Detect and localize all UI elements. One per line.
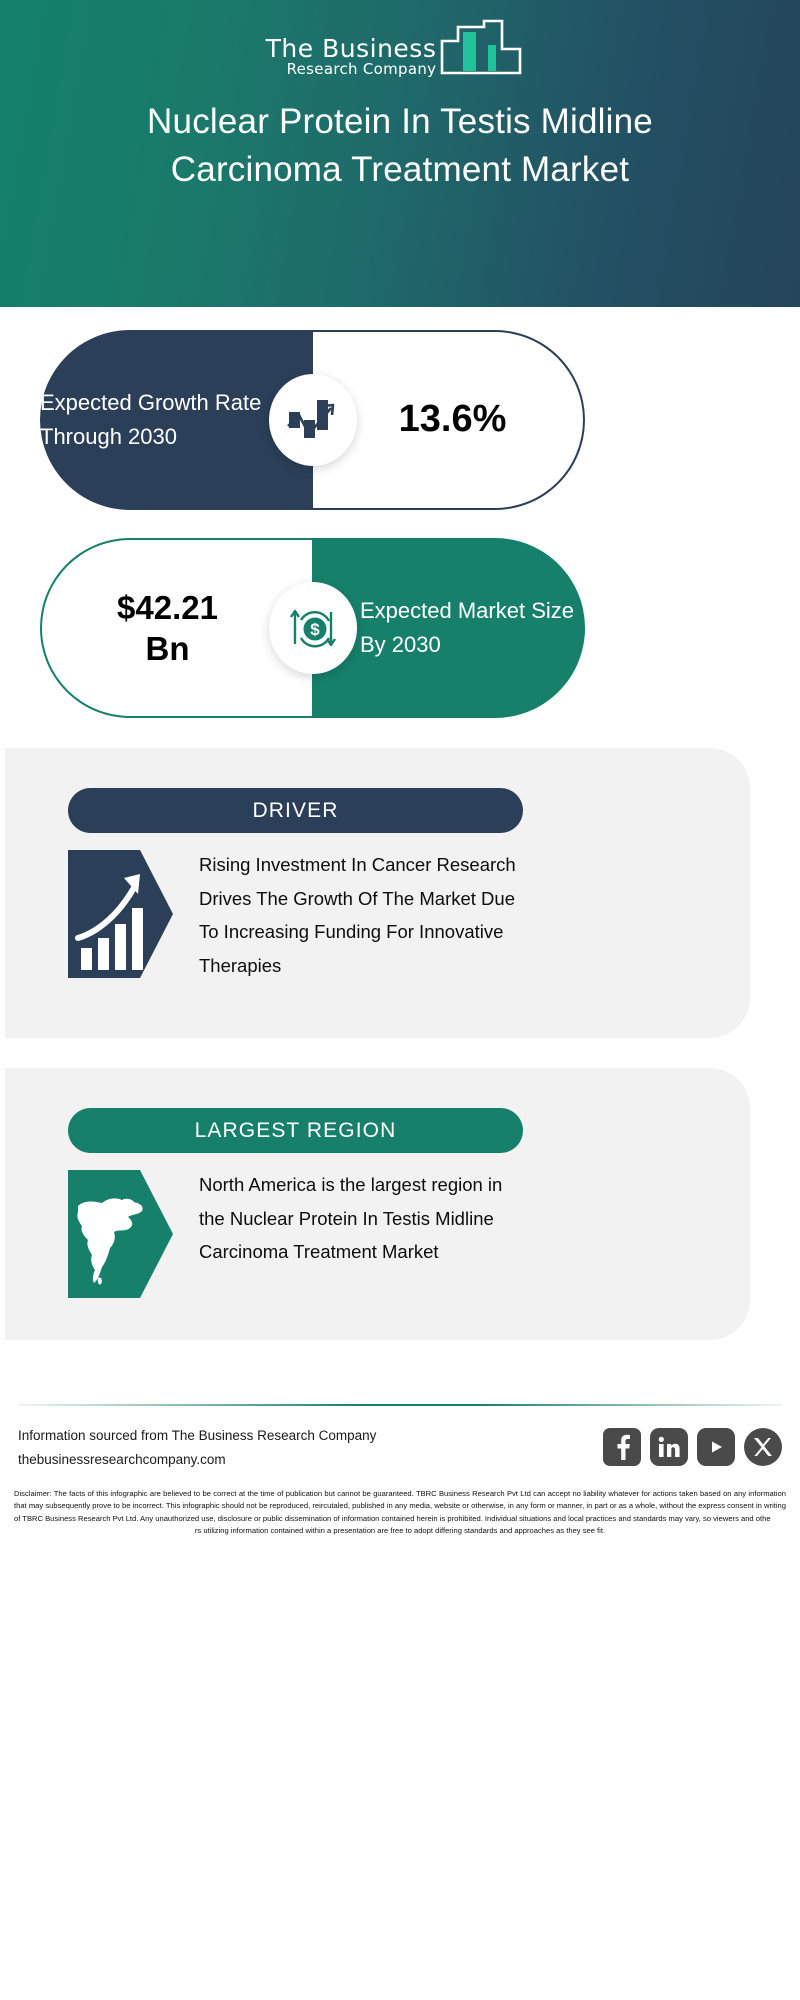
largest-region-pill-label: LARGEST REGION bbox=[195, 1119, 397, 1143]
stat-card-expected-market-size: $42.21 Bn Expected Market Size By 2030 $ bbox=[40, 538, 585, 718]
linkedin-icon[interactable] bbox=[650, 1428, 688, 1466]
page-title: Nuclear Protein In Testis Midline Carcin… bbox=[80, 98, 720, 195]
north-america-map-icon bbox=[68, 1170, 173, 1298]
disclaimer-body: Disclaimer: The facts of this infographi… bbox=[14, 1489, 786, 1523]
disclaimer-last-line: rs utilizing information contained withi… bbox=[14, 1525, 786, 1537]
source-line-1: Information sourced from The Business Re… bbox=[18, 1424, 376, 1448]
svg-text:$: $ bbox=[310, 620, 320, 639]
driver-body: Rising Investment In Cancer Research Dri… bbox=[68, 848, 730, 983]
driver-pill-label: DRIVER bbox=[253, 799, 339, 823]
source-credit: Information sourced from The Business Re… bbox=[18, 1424, 376, 1471]
x-twitter-icon[interactable] bbox=[744, 1428, 782, 1466]
panel-largest-region: LARGEST REGION North America is the larg… bbox=[5, 1068, 750, 1340]
bar-chart-growth-arrow-icon bbox=[269, 374, 357, 466]
header-banner: The Business Research Company Nuclear Pr… bbox=[0, 0, 800, 307]
facebook-icon[interactable] bbox=[603, 1428, 641, 1466]
source-website[interactable]: thebusinessresearchcompany.com bbox=[18, 1448, 376, 1472]
footer-divider bbox=[18, 1404, 782, 1406]
logo-line-1: The Business bbox=[266, 36, 437, 62]
disclaimer-text: Disclaimer: The facts of this infographi… bbox=[14, 1488, 786, 1537]
company-logo: The Business Research Company bbox=[266, 20, 535, 82]
largest-region-body: North America is the largest region in t… bbox=[68, 1168, 730, 1298]
growth-bar-chart-arrow-icon bbox=[68, 850, 173, 978]
driver-text: Rising Investment In Cancer Research Dri… bbox=[199, 848, 529, 983]
bar-chart-logo-icon bbox=[438, 15, 534, 82]
largest-region-text: North America is the largest region in t… bbox=[199, 1168, 529, 1269]
logo-text: The Business Research Company bbox=[266, 36, 437, 82]
stat-card-expected-growth-rate: Expected Growth Rate Through 2030 13.6% bbox=[40, 330, 585, 510]
logo-line-2: Research Company bbox=[287, 62, 437, 78]
dollar-refresh-cycle-icon: $ bbox=[269, 582, 357, 674]
market-size-value-line2: Bn bbox=[146, 628, 190, 669]
youtube-icon[interactable] bbox=[697, 1428, 735, 1466]
social-links bbox=[603, 1428, 782, 1466]
panel-driver: DRIVER Rising Investment In Cancer Resea… bbox=[5, 748, 750, 1038]
market-size-value-line1: $42.21 bbox=[117, 587, 218, 628]
driver-pill: DRIVER bbox=[68, 788, 523, 833]
infographic-page: The Business Research Company Nuclear Pr… bbox=[0, 0, 800, 2000]
largest-region-pill: LARGEST REGION bbox=[68, 1108, 523, 1153]
